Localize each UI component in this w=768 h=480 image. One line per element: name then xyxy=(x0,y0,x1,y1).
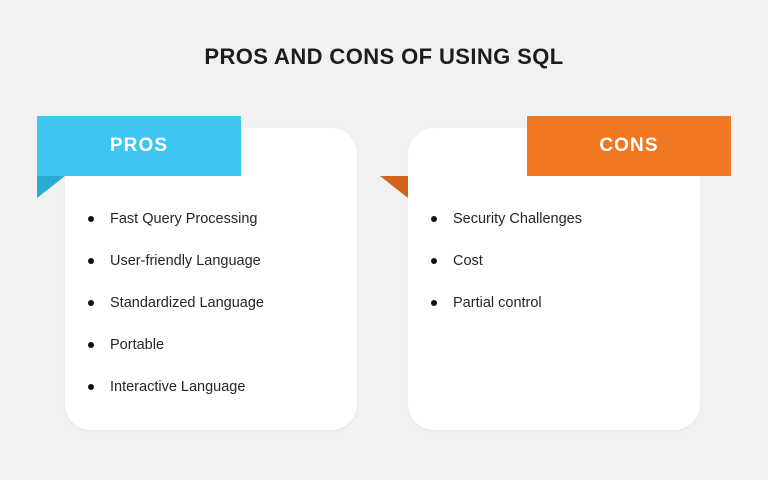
list-item-label: Interactive Language xyxy=(110,379,245,395)
list-item-label: Portable xyxy=(110,337,164,353)
pros-heading: PROS xyxy=(110,135,168,157)
bullet-icon xyxy=(88,384,94,390)
pros-banner: PROS xyxy=(37,116,241,176)
list-item: Portable xyxy=(88,336,264,378)
list-item-label: Partial control xyxy=(453,295,542,311)
list-item: Security Challenges xyxy=(431,210,582,252)
infographic-canvas: PROS AND CONS OF USING SQL PROS Fast Que… xyxy=(0,0,768,480)
list-item: Partial control xyxy=(431,294,582,336)
page-title: PROS AND CONS OF USING SQL xyxy=(0,44,768,70)
list-item: User-friendly Language xyxy=(88,252,264,294)
bullet-icon xyxy=(431,258,437,264)
list-item-label: Security Challenges xyxy=(453,211,582,227)
bullet-icon xyxy=(431,300,437,306)
cons-banner: CONS xyxy=(527,116,731,176)
list-item: Standardized Language xyxy=(88,294,264,336)
cons-heading: CONS xyxy=(599,135,658,157)
list-item-label: Standardized Language xyxy=(110,295,264,311)
cons-banner-fold-icon xyxy=(380,176,408,198)
pros-list: Fast Query Processing User-friendly Lang… xyxy=(88,210,264,420)
list-item-label: Cost xyxy=(453,253,483,269)
list-item-label: User-friendly Language xyxy=(110,253,261,269)
list-item: Fast Query Processing xyxy=(88,210,264,252)
bullet-icon xyxy=(431,216,437,222)
list-item: Cost xyxy=(431,252,582,294)
list-item: Interactive Language xyxy=(88,378,264,420)
bullet-icon xyxy=(88,300,94,306)
list-item-label: Fast Query Processing xyxy=(110,211,257,227)
pros-banner-fold-icon xyxy=(37,176,65,198)
cons-list: Security Challenges Cost Partial control xyxy=(431,210,582,336)
bullet-icon xyxy=(88,216,94,222)
bullet-icon xyxy=(88,258,94,264)
bullet-icon xyxy=(88,342,94,348)
